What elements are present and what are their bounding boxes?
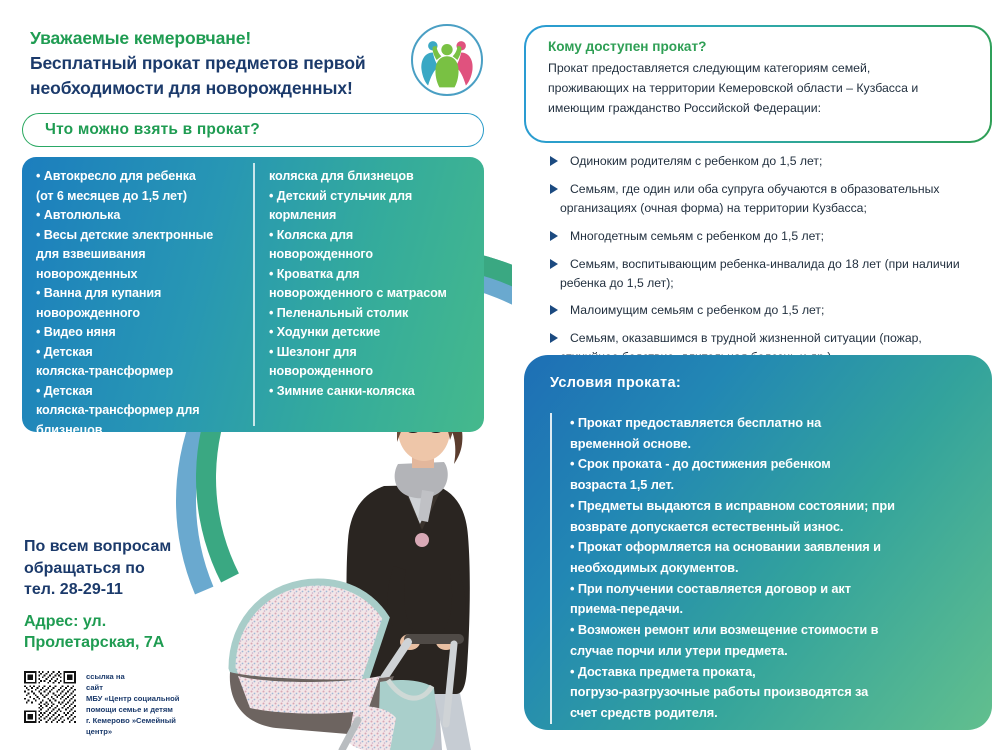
- left-panel: Уважаемые кемеровчане! Бесплатный прокат…: [0, 0, 512, 750]
- arrow-bullet-icon: [550, 259, 558, 269]
- contact-line-2: обращаться по: [24, 558, 214, 580]
- eligibility-intro-line: имеющим гражданство Российской Федерации…: [548, 99, 968, 119]
- list-item: Семьям, где один или оба супруга обучают…: [548, 180, 1000, 218]
- rental-items-column-left: • Автокресло для ребенка (от 6 месяцев д…: [22, 163, 253, 426]
- list-item: кормления: [269, 206, 478, 226]
- list-item: Одиноким родителям с ребенком до 1,5 лет…: [548, 152, 1000, 171]
- list-item: для взвешивания: [36, 245, 247, 265]
- list-item-text: Семьям, воспитывающим ребенка-инвалида д…: [570, 255, 1000, 274]
- address-block: Адрес: ул. Пролетарская, 7А: [24, 611, 214, 654]
- condition-line: возврате допускается естественный износ.: [570, 517, 966, 538]
- list-item: новорожденных: [36, 265, 247, 285]
- list-item: новорожденного с матрасом: [269, 284, 478, 304]
- rental-items-column-right: коляска для близнецов • Детский стульчик…: [253, 163, 484, 426]
- qr-caption-line: сайт: [86, 682, 216, 693]
- list-item: • Шезлонг для: [269, 343, 478, 363]
- list-item: • Детский манеж: [36, 440, 247, 460]
- list-item-text: Семьям, оказавшимся в трудной жизненной …: [570, 329, 1000, 348]
- qr-code-icon[interactable]: [24, 671, 76, 723]
- condition-line: погрузо-разгрузочные работы производятся…: [570, 682, 966, 703]
- qr-block: ссылка на сайт МБУ «Центр социальной пом…: [24, 671, 216, 737]
- condition-line: • При получении составляется договор и а…: [570, 579, 966, 600]
- eligibility-box: Кому доступен прокат? Прокат предоставля…: [524, 25, 992, 143]
- condition-line: необходимых документов.: [570, 558, 966, 579]
- headline-line-3: необходимости для новорожденных!: [30, 76, 390, 101]
- list-item-text: Малоимущим семьям с ребенком до 1,5 лет;: [570, 301, 1000, 320]
- list-item: • Детская: [36, 343, 247, 363]
- list-item: новорожденного: [269, 245, 478, 265]
- qr-caption-line: помощи семье и детям: [86, 704, 216, 715]
- list-item-text: Многодетным семьям с ребенком до 1,5 лет…: [570, 227, 1000, 246]
- list-item: • Детский стульчик для: [269, 187, 478, 207]
- list-item: Семьям, воспитывающим ребенка-инвалида д…: [548, 255, 1000, 293]
- eligibility-intro-line: проживающих на территории Кемеровской об…: [548, 79, 968, 99]
- conditions-title: Условия проката:: [550, 375, 966, 391]
- list-item: коляска для близнецов: [269, 167, 478, 187]
- list-item: • Автолюлька: [36, 206, 247, 226]
- condition-line: счет средств родителя.: [570, 703, 966, 724]
- eligibility-intro-line: Прокат предоставляется следующим категор…: [548, 59, 968, 79]
- condition-line: • Доставка предмета проката,: [570, 662, 966, 683]
- headline-block: Уважаемые кемеровчане! Бесплатный прокат…: [30, 26, 390, 101]
- question-pill-label: Что можно взять в прокат?: [45, 121, 260, 139]
- contact-line-1: По всем вопросам: [24, 536, 214, 558]
- eligibility-title: Кому доступен прокат?: [548, 39, 968, 54]
- list-item: новорожденного: [36, 304, 247, 324]
- list-item: • Ходунки детские: [269, 323, 478, 343]
- condition-line: временной основе.: [570, 434, 966, 455]
- arrow-bullet-icon: [550, 231, 558, 241]
- address-line-1: Адрес: ул.: [24, 611, 214, 633]
- question-pill: Что можно взять в прокат?: [22, 113, 484, 147]
- qr-caption-line: ссылка на: [86, 671, 216, 682]
- list-item: • Кроватка для: [269, 265, 478, 285]
- list-item: • Весы детские электронные: [36, 226, 247, 246]
- eligibility-list: Одиноким родителям с ребенком до 1,5 лет…: [548, 152, 1000, 376]
- list-item: (от 6 месяцев до 1,5 лет): [36, 187, 247, 207]
- contact-block: По всем вопросам обращаться по тел. 28-2…: [24, 536, 214, 654]
- list-item: коляска-трансформер: [36, 362, 247, 382]
- qr-caption-line: центр»: [86, 726, 216, 737]
- list-item: • Пеленальный столик: [269, 304, 478, 324]
- list-item: • Детская: [36, 382, 247, 402]
- address-line-2: Пролетарская, 7А: [24, 632, 214, 654]
- arrow-bullet-icon: [550, 333, 558, 343]
- mother-with-stroller-photo: [208, 390, 508, 750]
- arrow-bullet-icon: [550, 184, 558, 194]
- headline-line-2: Бесплатный прокат предметов первой: [30, 51, 390, 76]
- rental-items-panel: • Автокресло для ребенка (от 6 месяцев д…: [22, 157, 484, 432]
- list-item: новорожденного: [269, 362, 478, 382]
- qr-caption: ссылка на сайт МБУ «Центр социальной пом…: [86, 671, 216, 737]
- conditions-list: • Прокат предоставляется бесплатно на вр…: [550, 413, 966, 724]
- list-item: коляска: [36, 479, 247, 499]
- list-item-text: Семьям, где один или оба супруга обучают…: [570, 180, 1000, 199]
- list-item: • Ванна для купания: [36, 284, 247, 304]
- list-item: • Детская прогулочная: [36, 499, 247, 519]
- condition-line: возраста 1,5 лет.: [570, 475, 966, 496]
- list-item: • Автокресло для ребенка: [36, 167, 247, 187]
- condition-line: • Возможен ремонт или возмещение стоимос…: [570, 620, 966, 641]
- three-people-logo-icon: [411, 24, 483, 96]
- qr-caption-line: МБУ «Центр социальной: [86, 693, 216, 704]
- list-item-text-cont: ребенка до 1,5 лет);: [560, 274, 1000, 293]
- list-item: • Зимние санки-коляска: [269, 382, 478, 402]
- list-item-text: Одиноким родителям с ребенком до 1,5 лет…: [570, 152, 1000, 171]
- list-item: • Коляска для: [269, 226, 478, 246]
- list-item: близнецов: [36, 421, 247, 441]
- conditions-box: Условия проката: • Прокат предоставляетс…: [524, 355, 992, 730]
- condition-line: • Прокат оформляется на основании заявле…: [570, 537, 966, 558]
- list-item: Многодетным семьям с ребенком до 1,5 лет…: [548, 227, 1000, 246]
- arrow-bullet-icon: [550, 305, 558, 315]
- list-item: • Видео няня: [36, 323, 247, 343]
- list-item: Малоимущим семьям с ребенком до 1,5 лет;: [548, 301, 1000, 320]
- list-item: • Детская прогулочная: [36, 460, 247, 480]
- list-item: коляска-трансформер для: [36, 401, 247, 421]
- condition-line: • Предметы выдаются в исправном состояни…: [570, 496, 966, 517]
- condition-line: случае порчи или утери предмета.: [570, 641, 966, 662]
- headline-line-1: Уважаемые кемеровчане!: [30, 26, 390, 51]
- qr-caption-line: г. Кемерово »Семейный: [86, 715, 216, 726]
- list-item-text-cont: организациях (очная форма) на территории…: [560, 199, 1000, 218]
- condition-line: приема-передачи.: [570, 599, 966, 620]
- right-panel: Кому доступен прокат? Прокат предоставля…: [512, 0, 1000, 750]
- condition-line: • Прокат предоставляется бесплатно на: [570, 413, 966, 434]
- condition-line: • Срок проката - до достижения ребенком: [570, 454, 966, 475]
- phone-number: тел. 28-29-11: [24, 579, 214, 601]
- arrow-bullet-icon: [550, 156, 558, 166]
